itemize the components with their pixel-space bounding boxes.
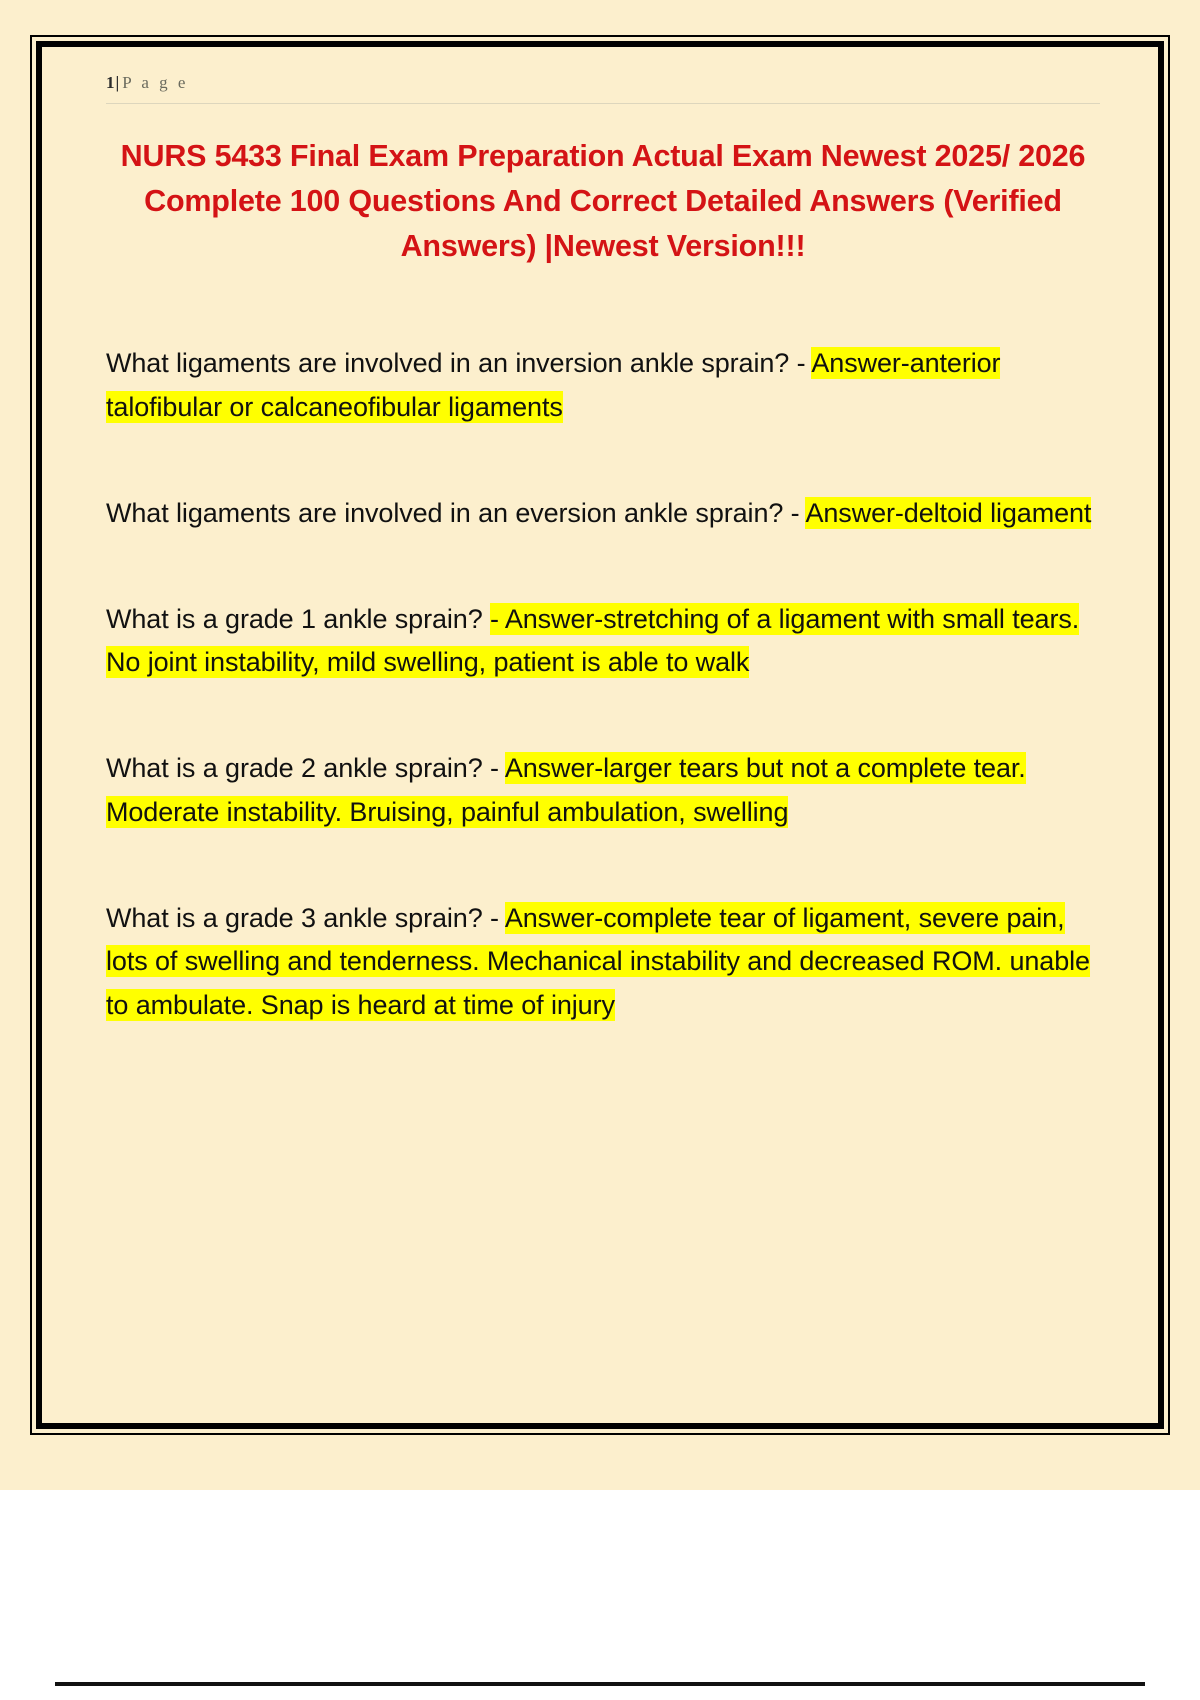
header-page-label: P a g e (122, 73, 188, 92)
next-page-top-border (55, 1682, 1145, 1686)
document-page-1: 1|P a g e NURS 5433 Final Exam Preparati… (0, 0, 1200, 1490)
qa-item-4: What is a grade 2 ankle sprain? - Answer… (106, 747, 1100, 834)
question-text-1: What ligaments are involved in an invers… (106, 348, 811, 378)
question-text-3: What is a grade 1 ankle sprain? (106, 604, 490, 634)
question-text-2: What ligaments are involved in an eversi… (106, 498, 805, 528)
qa-item-2: What ligaments are involved in an eversi… (106, 492, 1100, 536)
page-content-area: 1|P a g e NURS 5433 Final Exam Preparati… (42, 47, 1158, 1423)
qa-item-5: What is a grade 3 ankle sprain? - Answer… (106, 897, 1100, 1028)
running-header: 1|P a g e (106, 73, 1100, 104)
qa-list: What ligaments are involved in an invers… (106, 342, 1100, 1027)
answer-text-2: Answer-deltoid ligament (805, 497, 1091, 529)
page-gap (0, 1490, 1200, 1700)
page-border-inner: 1|P a g e NURS 5433 Final Exam Preparati… (36, 41, 1164, 1429)
page-number: 1 (106, 73, 116, 92)
page-title: NURS 5433 Final Exam Preparation Actual … (120, 134, 1086, 268)
qa-item-3: What is a grade 1 ankle sprain? - Answer… (106, 598, 1100, 685)
question-text-4: What is a grade 2 ankle sprain? - (106, 753, 505, 783)
question-text-5: What is a grade 3 ankle sprain? - (106, 903, 505, 933)
qa-item-1: What ligaments are involved in an invers… (106, 342, 1100, 429)
page-border-outer: 1|P a g e NURS 5433 Final Exam Preparati… (30, 35, 1170, 1435)
